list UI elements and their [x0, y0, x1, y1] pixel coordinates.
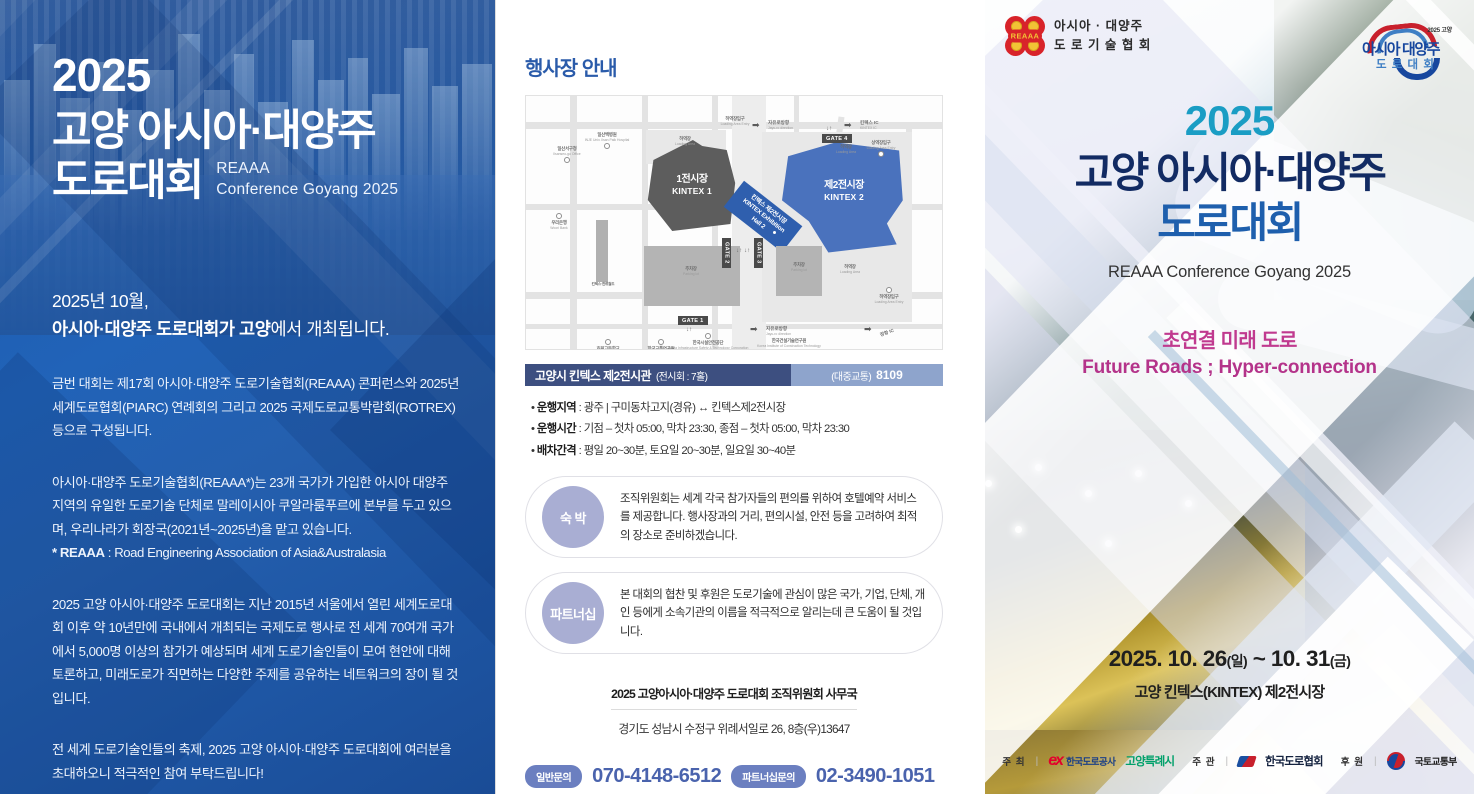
- slogan-korean: 초연결 미래 도로: [985, 324, 1474, 353]
- poi-dot-icon: [604, 143, 610, 149]
- gate-1-marker: GATE 1: [678, 316, 708, 325]
- left-title-en-line1: REAAA: [216, 159, 398, 180]
- cover-title-block: 2025 고양 아시아·대양주 도로대회 REAAA Conference Go…: [985, 100, 1474, 282]
- event-date-end-day: (금): [1330, 653, 1350, 669]
- cover-title-year: 2025: [985, 100, 1474, 142]
- left-title-en-line2: Conference Goyang 2025: [216, 180, 398, 201]
- right-panel-content: REAAA 아시아 · 대양주 도 로 기 술 협 회 2025 고양 아시아 …: [985, 0, 1474, 794]
- sponsor-divider: |: [1036, 756, 1039, 767]
- bus-info-header: 고양시 킨텍스 제2전시관 (전시회 : 7홀) (대중교통) 8109: [525, 364, 943, 386]
- bus-detail-item: 운행시간 : 기점 – 첫차 05:00, 막차 23:30, 종점 – 첫차 …: [531, 419, 957, 440]
- kintex2-label-en: KINTEX 2: [798, 192, 890, 202]
- poi-label-en: Loading Area: [822, 270, 878, 274]
- left-title-english: REAAA Conference Goyang 2025: [216, 159, 398, 207]
- host-label: 주 최: [1002, 754, 1025, 768]
- venue-guide-heading: 행사장 안내: [525, 52, 957, 81]
- left-title-line1: 고양 아시아·대양주: [52, 106, 459, 156]
- bus-detail-value: : 평일 20~30분, 토요일 20~30분, 일요일 30~40분: [576, 445, 795, 457]
- exit-arrow-jayuro-south: ➡: [750, 324, 758, 335]
- goyang-city-name: 고양특례시: [1125, 753, 1174, 769]
- emblem-year: 2025 고양: [1427, 25, 1452, 34]
- supporter-label: 후 원: [1341, 754, 1364, 768]
- bus-venue-hall: (전시회 : 7홀): [656, 368, 707, 383]
- right-panel: REAAA 아시아 · 대양주 도 로 기 술 협 회 2025 고양 아시아 …: [985, 0, 1474, 794]
- bus-details-list: 운행지역 : 광주 | 구미동차고지(경유) ↔ 킨텍스제2전시장 운행시간 :…: [525, 398, 957, 462]
- poi-label-en: Loading Area: [652, 142, 718, 146]
- poi-parking-west: 주차장 Parking lot: [658, 266, 724, 276]
- partnership-inquiry-chip[interactable]: 파트너십문의: [731, 765, 806, 788]
- organizer-title: 2025 고양아시아·대양주 도로대회 조직위원회 사무국: [611, 684, 857, 710]
- left-title-year: 2025: [52, 52, 459, 98]
- reaaa-association-logo: REAAA 아시아 · 대양주 도 로 기 술 협 회: [1005, 16, 1151, 56]
- slogan-block: 초연결 미래 도로 Future Roads ; Hyper-connectio…: [985, 324, 1474, 379]
- molit-name: 국토교통부: [1415, 754, 1457, 768]
- exit-label-en: Jayu-ro direction: [766, 332, 791, 336]
- general-inquiry-chip[interactable]: 일반문의: [525, 765, 582, 788]
- exit-arrow-kintex-ic: ➡: [844, 120, 852, 131]
- gate-2-marker: GATE 2: [722, 238, 731, 268]
- poi-construction-tech-institute: 한국건설기술연구원 Korea Institute of Constructio…: [748, 338, 830, 348]
- sponsor-row: 주 최 | ex 한국도로공사 고양특례시 주 관 | 한국도로협회 후 원 |…: [985, 752, 1474, 770]
- poi-subway-station: 킨텍스·한류월드: [586, 282, 620, 287]
- poi-label-en: Parking lot: [658, 272, 724, 276]
- kintex1-label-ko: 1전시장: [654, 174, 730, 186]
- poi-dot-icon: [878, 151, 884, 157]
- korea-expressway-logo: ex 한국도로공사: [1048, 752, 1115, 770]
- partnership-card: 파트너십 본 대회의 협찬 및 후원은 도로기술에 관심이 많은 국가, 기업,…: [525, 572, 943, 654]
- event-venue: 고양 킨텍스(KINTEX) 제2전시장: [985, 681, 1474, 702]
- partnership-inquiry-number[interactable]: 02-3490-1051: [816, 765, 935, 788]
- event-date-start: 2025. 10. 26: [1109, 646, 1227, 671]
- reaaa-logo-mark: REAAA: [1008, 30, 1042, 43]
- exit-label-en: KINTEX IC: [860, 126, 879, 130]
- poi-loading-area-se: 하역장 Loading Area: [822, 264, 878, 274]
- organizer-address: 경기도 성남시 수정구 위례서일로 26, 8층(우)13647: [525, 720, 943, 737]
- poi-label-ko: 호원고등학교: [578, 346, 638, 350]
- poi-parking-east: 주차장 Parking lot: [774, 262, 824, 272]
- reaaa-logo-text: 아시아 · 대양주 도 로 기 술 협 회: [1054, 17, 1151, 55]
- korea-road-association-icon: [1236, 756, 1257, 767]
- venue-map[interactable]: 1전시장 KINTEX 1 제2전시장 KINTEX 2 킨텍스 제2전시장 K…: [525, 95, 943, 350]
- accommodation-text: 조직위원회는 세계 각국 참가자들의 편의를 위하여 호텔예약 서비스를 제공합…: [620, 490, 926, 545]
- exit-label-kintex-ic: 킨텍스 IC KINTEX IC: [860, 120, 879, 130]
- left-lead-line2-bold: 아시아·대양주 도로대회가 고양: [52, 319, 270, 339]
- poi-loading-area-entry-e: 하역장입구 Loading Area Entry: [858, 286, 920, 304]
- poi-label-en: Ilsanseo-gu Office: [536, 152, 598, 156]
- cover-title-line2: 도로대회: [985, 198, 1474, 248]
- bus-detail-value: : 광주 | 구미동차고지(경유) ↔ 킨텍스제2전시장: [576, 402, 785, 414]
- brochure-page: 2025 고양 아시아·대양주 도로대회 REAAA Conference Go…: [0, 0, 1474, 794]
- left-paragraph-3: 2025 고양 아시아·대양주 도로대회는 지난 2015년 서울에서 열린 세…: [52, 593, 459, 711]
- poi-label-en: Parking lot: [774, 268, 824, 272]
- left-reaaa-footnote: * REAAA : Road Engineering Association o…: [52, 541, 459, 565]
- poi-ilsanseo-gu-office: 일산서구청 Ilsanseo-gu Office: [536, 146, 598, 163]
- ex-mark-icon: ex: [1048, 752, 1062, 770]
- bus-venue-name: 고양시 킨텍스 제2전시관: [535, 367, 651, 384]
- accommodation-card: 숙 박 조직위원회는 세계 각국 참가자들의 편의를 위하여 호텔예약 서비스를…: [525, 476, 943, 558]
- poi-label-en: Korea Institute of Construction Technolo…: [748, 344, 830, 348]
- bus-detail-label: 운행시간: [537, 423, 576, 435]
- partnership-text: 본 대회의 협찬 및 후원은 도로기술에 관심이 많은 국가, 기업, 단체, …: [620, 586, 926, 641]
- organizer-label: 주 관: [1192, 754, 1215, 768]
- exit-label-ko: 킨텍스 IC: [860, 120, 879, 125]
- exit-label-jayuro-north: 자유로방향 Jayu-ro direction: [768, 120, 793, 130]
- bus-venue-block: 고양시 킨텍스 제2전시관 (전시회 : 7홀): [525, 364, 791, 386]
- kintex1-label: 1전시장 KINTEX 1: [654, 174, 730, 196]
- poi-dot-icon: [705, 333, 711, 339]
- left-lead-block: 2025년 10월, 아시아·대양주 도로대회가 고양에서 개최됩니다.: [52, 287, 459, 345]
- kintex2-label: 제2전시장 KINTEX 2: [798, 180, 890, 202]
- left-paragraph-2: 아시아·대양주 도로기술협회(REAAA*)는 23개 국가가 가입한 아시아 …: [52, 471, 459, 542]
- left-lead-line1: 2025년 10월,: [52, 287, 459, 316]
- event-date-block: 2025. 10. 26(일) ~ 10. 31(금) 고양 킨텍스(KINTE…: [985, 646, 1474, 702]
- korea-expressway-name: 한국도로공사: [1066, 754, 1115, 768]
- slogan-english: Future Roads ; Hyper-connection: [985, 357, 1474, 379]
- left-lead-line2-rest: 에서 개최됩니다.: [270, 319, 389, 339]
- accommodation-badge: 숙 박: [542, 486, 604, 548]
- event-date-line: 2025. 10. 26(일) ~ 10. 31(금): [985, 646, 1474, 672]
- poi-loading-area-nw: 하역장 Loading Area: [652, 136, 718, 146]
- bus-transit-label: (대중교통): [831, 368, 871, 383]
- poi-label-en: INJE Univ. Ilsan Paik Hospital: [570, 138, 644, 142]
- event-date-end: ~ 10. 31: [1247, 646, 1330, 671]
- organizer-block: 2025 고양아시아·대양주 도로대회 조직위원회 사무국 경기도 성남시 수정…: [525, 684, 943, 737]
- reaaa-logo-line1: 아시아 · 대양주: [1054, 17, 1151, 36]
- poi-dot-icon: [658, 339, 664, 345]
- subway-station-marker: [596, 220, 608, 282]
- poi-goyang-stadium: 호원고등학교 Goyang Stadium: [578, 338, 638, 350]
- sponsor-divider: |: [1226, 756, 1229, 767]
- exit-label-ko: 자유로방향: [768, 120, 789, 125]
- left-paragraph-4: 전 세계 도로기술인들의 축제, 2025 고양 아시아·대양주 도로대회에 여…: [52, 738, 459, 785]
- exit-label-en: Jayu-ro direction: [768, 126, 793, 130]
- cover-title-english: REAAA Conference Goyang 2025: [985, 263, 1474, 282]
- exit-arrow-north-jayuro: ➡: [752, 120, 760, 131]
- event-date-start-day: (일): [1227, 653, 1247, 669]
- exit-label-janghang-ic: 장항 IC: [879, 328, 895, 339]
- gate-3-marker: GATE 3: [754, 238, 763, 268]
- poi-label-en: Woori Bank: [530, 226, 588, 230]
- exit-label-ko: 장항 IC: [879, 328, 894, 338]
- left-title-line2: 도로대회: [52, 156, 202, 206]
- exit-label-jayuro-south: 지유로방향 Jayu-ro direction: [766, 326, 791, 336]
- contact-row: 일반문의 070-4148-6512 파트너십문의 02-3490-1051: [525, 765, 943, 788]
- left-lead-line2: 아시아·대양주 도로대회가 고양에서 개최됩니다.: [52, 315, 459, 344]
- poi-label-en: Loading Area Entry: [858, 300, 920, 304]
- bus-detail-item: 운행지역 : 광주 | 구미동차고지(경유) ↔ 킨텍스제2전시장: [531, 398, 957, 419]
- reaaa-flower-icon: REAAA: [1005, 16, 1045, 56]
- cover-title-line1: 고양 아시아·대양주: [985, 148, 1474, 198]
- partnership-badge: 파트너십: [542, 582, 604, 644]
- panel-divider-left: [495, 0, 496, 794]
- korea-road-association-name: 한국도로협회: [1265, 753, 1323, 769]
- bus-route-block: (대중교통) 8109: [791, 364, 943, 386]
- left-panel: 2025 고양 아시아·대양주 도로대회 REAAA Conference Go…: [0, 0, 495, 794]
- taegeuk-icon: [1387, 752, 1405, 770]
- emblem-line2: 도 로 대 회: [1376, 56, 1435, 72]
- poi-dot-icon: [556, 213, 562, 219]
- bus-detail-label: 운행지역: [537, 402, 576, 414]
- general-inquiry-number[interactable]: 070-4148-6512: [592, 765, 721, 788]
- kintex1-label-en: KINTEX 1: [654, 186, 730, 196]
- logo-row: REAAA 아시아 · 대양주 도 로 기 술 협 회 2025 고양 아시아 …: [985, 0, 1474, 82]
- reaaa-logo-line2: 도 로 기 술 협 회: [1054, 36, 1151, 55]
- conference-emblem-logo: 2025 고양 아시아 대양주 도 로 대 회: [1360, 16, 1456, 82]
- poi-dot-icon: [564, 157, 570, 163]
- bus-detail-label: 배차간격: [537, 445, 576, 457]
- exit-arrow-janghang-ic: ➡: [864, 324, 872, 335]
- left-footnote-rest: : Road Engineering Association of Asia&A…: [105, 545, 386, 560]
- poi-dot-icon: [886, 287, 892, 293]
- exit-label-ko: 지유로방향: [766, 326, 787, 331]
- poi-woori-bank: 우리은행 Woori Bank: [530, 212, 588, 230]
- bus-detail-value: : 기점 – 첫차 05:00, 막차 23:30, 종점 – 첫차 05:00…: [576, 423, 849, 435]
- poi-loading-area-entry-ne: 상역장입구 Loading Area Entry: [850, 140, 912, 157]
- middle-panel: 행사장 안내 1전시장 KINTEX 1: [495, 0, 985, 794]
- poi-label-en: Loading Area Entry: [850, 146, 912, 150]
- left-footnote-bold: * REAAA: [52, 545, 105, 560]
- poi-label-ko: 킨텍스·한류월드: [586, 282, 620, 287]
- left-paragraph-1: 금번 대회는 제17회 아시아·대양주 도로기술협회(REAAA) 콘퍼런스와 …: [52, 372, 459, 443]
- bus-detail-item: 배차간격 : 평일 20~30분, 토요일 20~30분, 일요일 30~40분: [531, 441, 957, 462]
- gate-4-marker: GATE 4: [822, 134, 852, 143]
- poi-dot-icon: [605, 339, 611, 345]
- kintex2-label-ko: 제2전시장: [798, 180, 890, 192]
- bus-route-number: 8109: [876, 368, 903, 382]
- sponsor-divider: |: [1374, 756, 1377, 767]
